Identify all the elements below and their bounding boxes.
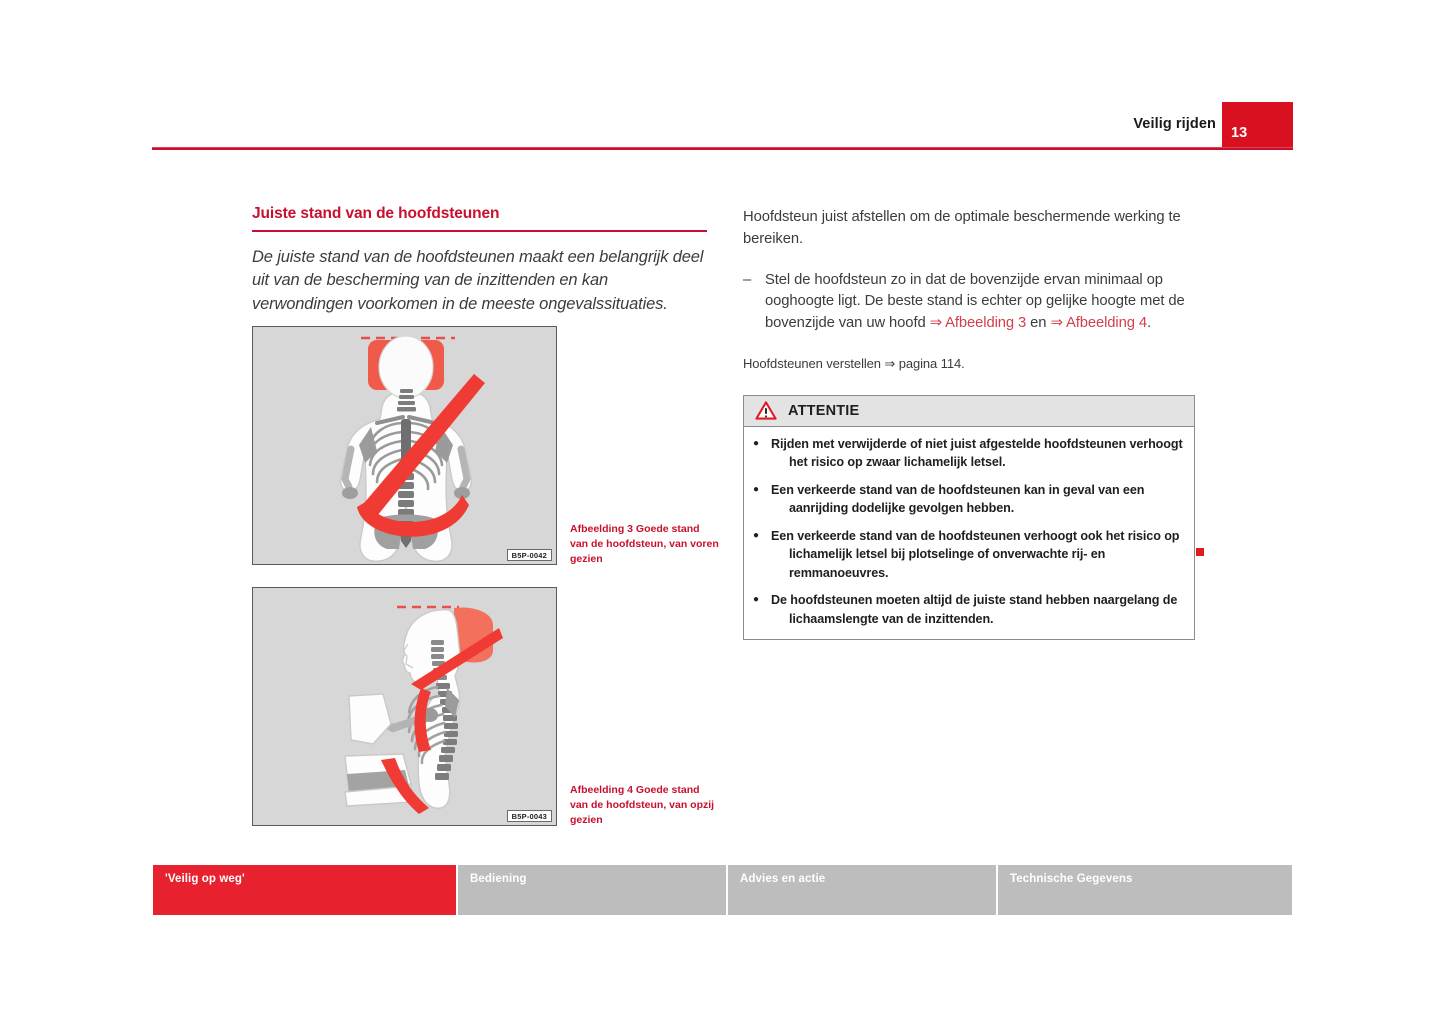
warning-header: ATTENTIE — [744, 396, 1194, 427]
skeleton-side-view-illustration — [253, 588, 557, 826]
figure-4: B5P-0043 Afbeelding 4 Goede stand van de… — [252, 587, 557, 826]
footer-tab-bediening[interactable]: Bediening — [457, 864, 727, 916]
warning-list-item: ● Een verkeerde stand van de hoofdsteune… — [753, 527, 1185, 583]
dash-list-item: – Stel de hoofdsteun zo in dat de bovenz… — [743, 270, 1195, 335]
page-title: Veilig rijden — [1133, 116, 1216, 132]
warning-title: ATTENTIE — [788, 403, 859, 419]
footer-tab-label: Bediening — [470, 873, 527, 885]
figure-4-image: B5P-0043 — [252, 587, 557, 826]
page-header: Veilig rijden 13 — [152, 95, 1293, 150]
warning-list-item: ● Een verkeerde stand van de hoofdsteune… — [753, 481, 1185, 518]
section-heading: Juiste stand van de hoofdsteunen — [252, 205, 707, 232]
footer-tab-advies-en-actie[interactable]: Advies en actie — [727, 864, 997, 916]
warning-triangle-icon — [755, 401, 777, 420]
section-intro-text: De juiste stand van de hoofdsteunen maak… — [252, 246, 704, 316]
figure-3: B5P-0042 Afbeelding 3 Goede stand van de… — [252, 326, 557, 565]
warning-bullet: ● — [753, 435, 771, 472]
dash-text-after: . — [1147, 315, 1151, 331]
footer-tabs: 'Veilig op weg' Bediening Advies en acti… — [152, 864, 1293, 916]
warning-bullet: ● — [753, 527, 771, 583]
dash-text-between: en — [1026, 315, 1050, 331]
footer-tab-label: Technische Gegevens — [1010, 873, 1133, 885]
dash-marker: – — [743, 270, 765, 335]
warning-bullet: ● — [753, 481, 771, 518]
xref-afbeelding-3[interactable]: ⇒ Afbeelding 3 — [930, 315, 1027, 331]
figure-3-id-label: B5P-0042 — [507, 549, 552, 561]
right-column: Hoofdsteun juist afstellen om de optimal… — [743, 207, 1198, 640]
xref-afbeelding-4[interactable]: ⇒ Afbeelding 4 — [1050, 315, 1147, 331]
figure-4-id-label: B5P-0043 — [507, 810, 552, 822]
page-number: 13 — [1231, 125, 1247, 141]
left-column: Juiste stand van de hoofdsteunen De juis… — [252, 205, 712, 316]
footer-tab-technische-gegevens[interactable]: Technische Gegevens — [997, 864, 1293, 916]
footer-tab-veilig-op-weg[interactable]: 'Veilig op weg' — [152, 864, 457, 916]
warning-list-item: ● Rijden met verwijderde of niet juist a… — [753, 435, 1185, 472]
dash-item-text: Stel de hoofdsteun zo in dat de bovenzij… — [765, 270, 1195, 335]
figure-3-caption: Afbeelding 3 Goede stand van de hoofdste… — [570, 522, 720, 567]
intro-paragraph: Hoofdsteun juist afstellen om de optimal… — [743, 207, 1195, 251]
figure-4-caption: Afbeelding 4 Goede stand van de hoofdste… — [570, 783, 720, 828]
warning-body: ● Rijden met verwijderde of niet juist a… — [744, 427, 1194, 640]
page-number-block: 13 — [1222, 102, 1293, 147]
warning-item-text: De hoofdsteunen moeten altijd de juiste … — [771, 591, 1185, 628]
footer-tab-label: Advies en actie — [740, 873, 825, 885]
warning-item-text: Een verkeerde stand van de hoofdsteunen … — [771, 527, 1185, 583]
reference-line: Hoofdsteunen verstellen ⇒ pagina 114. — [743, 355, 1198, 374]
header-divider — [152, 147, 1293, 150]
figure-3-image: B5P-0042 — [252, 326, 557, 565]
warning-item-text: Een verkeerde stand van de hoofdsteunen … — [771, 481, 1185, 518]
warning-box: ATTENTIE ● Rijden met verwijderde of nie… — [743, 395, 1195, 641]
warning-bullet: ● — [753, 591, 771, 628]
warning-list-item: ● De hoofdsteunen moeten altijd de juist… — [753, 591, 1185, 628]
warning-item-text: Rijden met verwijderde of niet juist afg… — [771, 435, 1185, 472]
footer-tab-label: 'Veilig op weg' — [165, 873, 245, 885]
skeleton-front-view-illustration — [253, 327, 557, 565]
margin-marker — [1196, 548, 1204, 556]
